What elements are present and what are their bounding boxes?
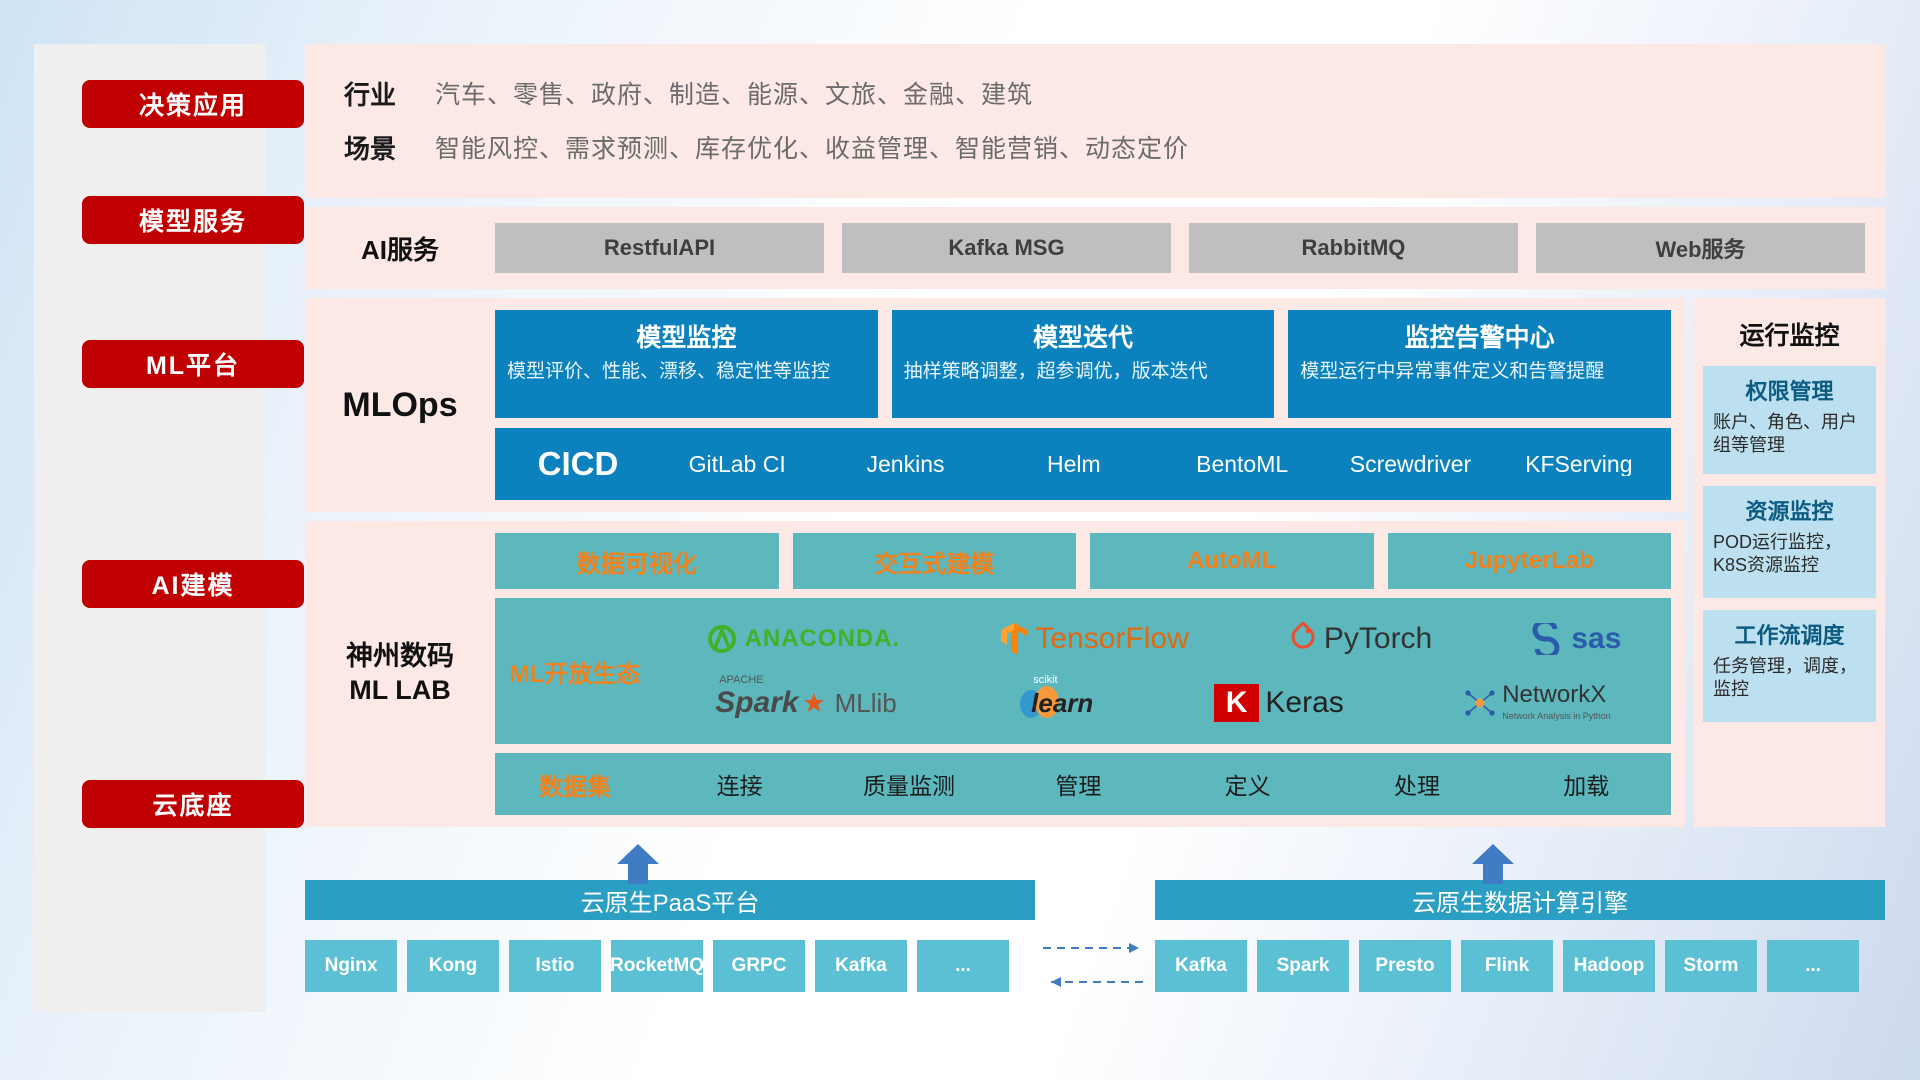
ai-service-item-web[interactable]: Web服务 (1536, 223, 1865, 273)
rail-label: ML平台 (146, 346, 240, 382)
keras-icon: K Keras (1214, 684, 1344, 722)
networkx-label: NetworkX (1502, 681, 1606, 708)
ml-ecosystem-label: ML开放生态 (495, 654, 655, 689)
business-row-scenario: 场景 智能风控、需求预测、库存优化、收益管理、智能营销、动态定价 (305, 120, 1885, 174)
paas-chip-grpc[interactable]: GRPC (713, 940, 805, 992)
engine-chip-kafka[interactable]: Kafka (1155, 940, 1247, 992)
rail-label: 云底座 (152, 786, 233, 822)
cicd-label: CICD (503, 445, 653, 483)
card-desc: 抽样策略调整，超参调优，版本迭代 (904, 360, 1263, 384)
cicd-item-bentoml[interactable]: BentoML (1158, 452, 1326, 476)
ai-service-band: AI服务 RestfulAPI Kafka MSG RabbitMQ Web服务 (305, 207, 1885, 289)
dataset-item-define[interactable]: 定义 (1163, 767, 1332, 801)
dataset-item-manage[interactable]: 管理 (994, 767, 1163, 801)
card-title: 模型迭代 (904, 318, 1263, 354)
monitor-card-resource[interactable]: 资源监控 POD运行监控，K8S资源监控 (1703, 486, 1876, 598)
business-band: 行业 汽车、零售、政府、制造、能源、文旅、金融、建筑 场景 智能风控、需求预测、… (305, 44, 1885, 198)
card-title: 权限管理 (1713, 374, 1866, 406)
card-desc: 账户、角色、用户组等管理 (1713, 411, 1866, 458)
paas-chip-kong[interactable]: Kong (407, 940, 499, 992)
mlops-band: MLOps 模型监控 模型评价、性能、漂移、稳定性等监控 模型迭代 抽样策略调整… (305, 298, 1685, 512)
platform-region: MLOps 模型监控 模型评价、性能、漂移、稳定性等监控 模型迭代 抽样策略调整… (305, 298, 1885, 827)
sas-label: sas (1571, 622, 1621, 656)
rail-item-cloud-base[interactable]: 云底座 (82, 780, 304, 828)
cicd-item-kfserving[interactable]: KFServing (1495, 452, 1663, 476)
engine-chip-spark[interactable]: Spark (1257, 940, 1349, 992)
engine-chip-hadoop[interactable]: Hadoop (1563, 940, 1655, 992)
paas-bar-label: 云原生PaaS平台 (581, 883, 760, 918)
networkx-sub: Network Analysis in Python (1502, 711, 1611, 721)
run-monitor-rail: 运行监控 权限管理 账户、角色、用户组等管理 资源监控 POD运行监控，K8S资… (1694, 298, 1885, 827)
card-desc: POD运行监控，K8S资源监控 (1713, 531, 1866, 578)
paas-chip-nginx[interactable]: Nginx (305, 940, 397, 992)
paas-chip-kafka[interactable]: Kafka (815, 940, 907, 992)
mlops-card-model-iteration[interactable]: 模型迭代 抽样策略调整，超参调优，版本迭代 (892, 310, 1275, 418)
lab-tool-data-visualization[interactable]: 数据可视化 (495, 533, 779, 589)
mllib-label: MLlib (835, 688, 897, 719)
rail-label: 决策应用 (139, 86, 247, 122)
mlops-card-alert-center[interactable]: 监控告警中心 模型运行中异常事件定义和告警提醒 (1288, 310, 1671, 418)
mlops-card-model-monitoring[interactable]: 模型监控 模型评价、性能、漂移、稳定性等监控 (495, 310, 878, 418)
arrow-up-left-icon (615, 844, 661, 884)
business-key: 行业 (305, 75, 435, 112)
cicd-item-screwdriver[interactable]: Screwdriver (1326, 452, 1494, 476)
anaconda-icon: ANACONDA. (705, 622, 901, 656)
engine-chip-presto[interactable]: Presto (1359, 940, 1451, 992)
cicd-item-helm[interactable]: Helm (990, 452, 1158, 476)
dataset-item-quality[interactable]: 质量监测 (824, 767, 993, 801)
ml-lab-label: 神州数码 ML LAB (305, 533, 495, 815)
lab-tool-interactive-modeling[interactable]: 交互式建模 (793, 533, 1077, 589)
ml-lab-band: 神州数码 ML LAB 数据可视化 交互式建模 AutoML JupyterLa… (305, 521, 1685, 827)
card-title: 监控告警中心 (1300, 318, 1659, 354)
chip-label: Web服务 (1655, 232, 1745, 264)
ai-service-label: AI服务 (305, 230, 495, 267)
scikit-learn-icon: scikit learn (1017, 682, 1093, 724)
engine-chip-flink[interactable]: Flink (1461, 940, 1553, 992)
lab-tool-jupyterlab[interactable]: JupyterLab (1388, 533, 1672, 589)
paas-chip-rocketmq[interactable]: RocketMQ (611, 940, 703, 992)
business-value: 智能风控、需求预测、库存优化、收益管理、智能营销、动态定价 (435, 129, 1189, 165)
card-title: 工作流调度 (1713, 618, 1866, 650)
rail-item-ml-platform[interactable]: ML平台 (82, 340, 304, 388)
rail-item-ai-modeling[interactable]: AI建模 (82, 560, 304, 608)
paas-chip-more[interactable]: ... (917, 940, 1009, 992)
main-column: 行业 汽车、零售、政府、制造、能源、文旅、金融、建筑 场景 智能风控、需求预测、… (305, 44, 1885, 827)
lab-tool-automl[interactable]: AutoML (1090, 533, 1374, 589)
chip-label: RabbitMQ (1302, 235, 1406, 261)
engine-chip-more[interactable]: ... (1767, 940, 1859, 992)
rail-label: AI建模 (151, 566, 234, 602)
business-row-industry: 行业 汽车、零售、政府、制造、能源、文旅、金融、建筑 (305, 66, 1885, 120)
business-value: 汽车、零售、政府、制造、能源、文旅、金融、建筑 (435, 75, 1033, 111)
left-rail: 决策应用 模型服务 ML平台 AI建模 云底座 (34, 44, 266, 1012)
rail-item-model-service[interactable]: 模型服务 (82, 196, 304, 244)
pytorch-icon: PyTorch (1288, 622, 1432, 656)
engine-chip-storm[interactable]: Storm (1665, 940, 1757, 992)
chip-label: Kafka MSG (948, 235, 1064, 261)
bidirectional-link-icon (1035, 932, 1155, 1002)
pytorch-label: PyTorch (1324, 622, 1432, 656)
cicd-item-gitlab-ci[interactable]: GitLab CI (653, 452, 821, 476)
networkx-icon: NetworkX Network Analysis in Python (1464, 683, 1611, 723)
monitor-card-permission[interactable]: 权限管理 账户、角色、用户组等管理 (1703, 366, 1876, 474)
monitor-card-workflow[interactable]: 工作流调度 任务管理，调度，监控 (1703, 610, 1876, 722)
sas-icon: sas (1531, 622, 1621, 656)
rail-label: 模型服务 (139, 202, 247, 238)
chip-label: RestfulAPI (604, 235, 715, 261)
business-key: 场景 (305, 129, 435, 166)
dataset-label: 数据集 (495, 767, 655, 802)
paas-bar[interactable]: 云原生PaaS平台 (305, 880, 1035, 920)
dataset-item-process[interactable]: 处理 (1332, 767, 1501, 801)
dataset-item-connect[interactable]: 连接 (655, 767, 824, 801)
ai-service-item-restfulapi[interactable]: RestfulAPI (495, 223, 824, 273)
cicd-row: CICD GitLab CI Jenkins Helm BentoML Scre… (495, 428, 1671, 500)
rail-item-decision[interactable]: 决策应用 (82, 80, 304, 128)
arrow-up-right-icon (1470, 844, 1516, 884)
card-desc: 任务管理，调度，监控 (1713, 655, 1866, 702)
apache-label: APACHE (719, 674, 763, 686)
ml-lab-label-line2: ML LAB (349, 675, 451, 705)
cicd-item-jenkins[interactable]: Jenkins (821, 452, 989, 476)
card-desc: 模型运行中异常事件定义和告警提醒 (1300, 360, 1659, 384)
keras-label: Keras (1265, 686, 1343, 720)
scikit-label: scikit (1033, 674, 1057, 686)
run-monitor-title: 运行监控 (1703, 316, 1876, 352)
card-title: 模型监控 (507, 318, 866, 354)
anaconda-label: ANACONDA. (745, 625, 901, 653)
mlops-label: MLOps (305, 310, 495, 500)
ai-service-item-rabbitmq[interactable]: RabbitMQ (1189, 223, 1518, 273)
cloud-foundation: 云原生PaaS平台 云原生数据计算引擎 Nginx Kong Istio Roc… (305, 880, 1885, 992)
data-engine-bar[interactable]: 云原生数据计算引擎 (1155, 880, 1885, 920)
dataset-row: 数据集 连接 质量监测 管理 定义 处理 加载 (495, 753, 1671, 815)
paas-chip-istio[interactable]: Istio (509, 940, 601, 992)
data-engine-bar-label: 云原生数据计算引擎 (1412, 883, 1628, 918)
ml-lab-label-line1: 神州数码 (346, 641, 454, 671)
tensorflow-label: TensorFlow (1035, 622, 1188, 656)
spark-mllib-icon: APACHE Spark MLlib (715, 686, 897, 720)
ml-ecosystem-panel: ML开放生态 ANACONDA. (495, 598, 1671, 744)
architecture-diagram: 决策应用 模型服务 ML平台 AI建模 云底座 行业 汽车、零售、政府、制造、能… (0, 0, 1920, 1080)
ai-service-item-kafka-msg[interactable]: Kafka MSG (842, 223, 1171, 273)
card-desc: 模型评价、性能、漂移、稳定性等监控 (507, 360, 866, 384)
card-title: 资源监控 (1713, 494, 1866, 526)
dataset-item-load[interactable]: 加载 (1502, 767, 1671, 801)
tensorflow-icon: TensorFlow (999, 621, 1188, 657)
